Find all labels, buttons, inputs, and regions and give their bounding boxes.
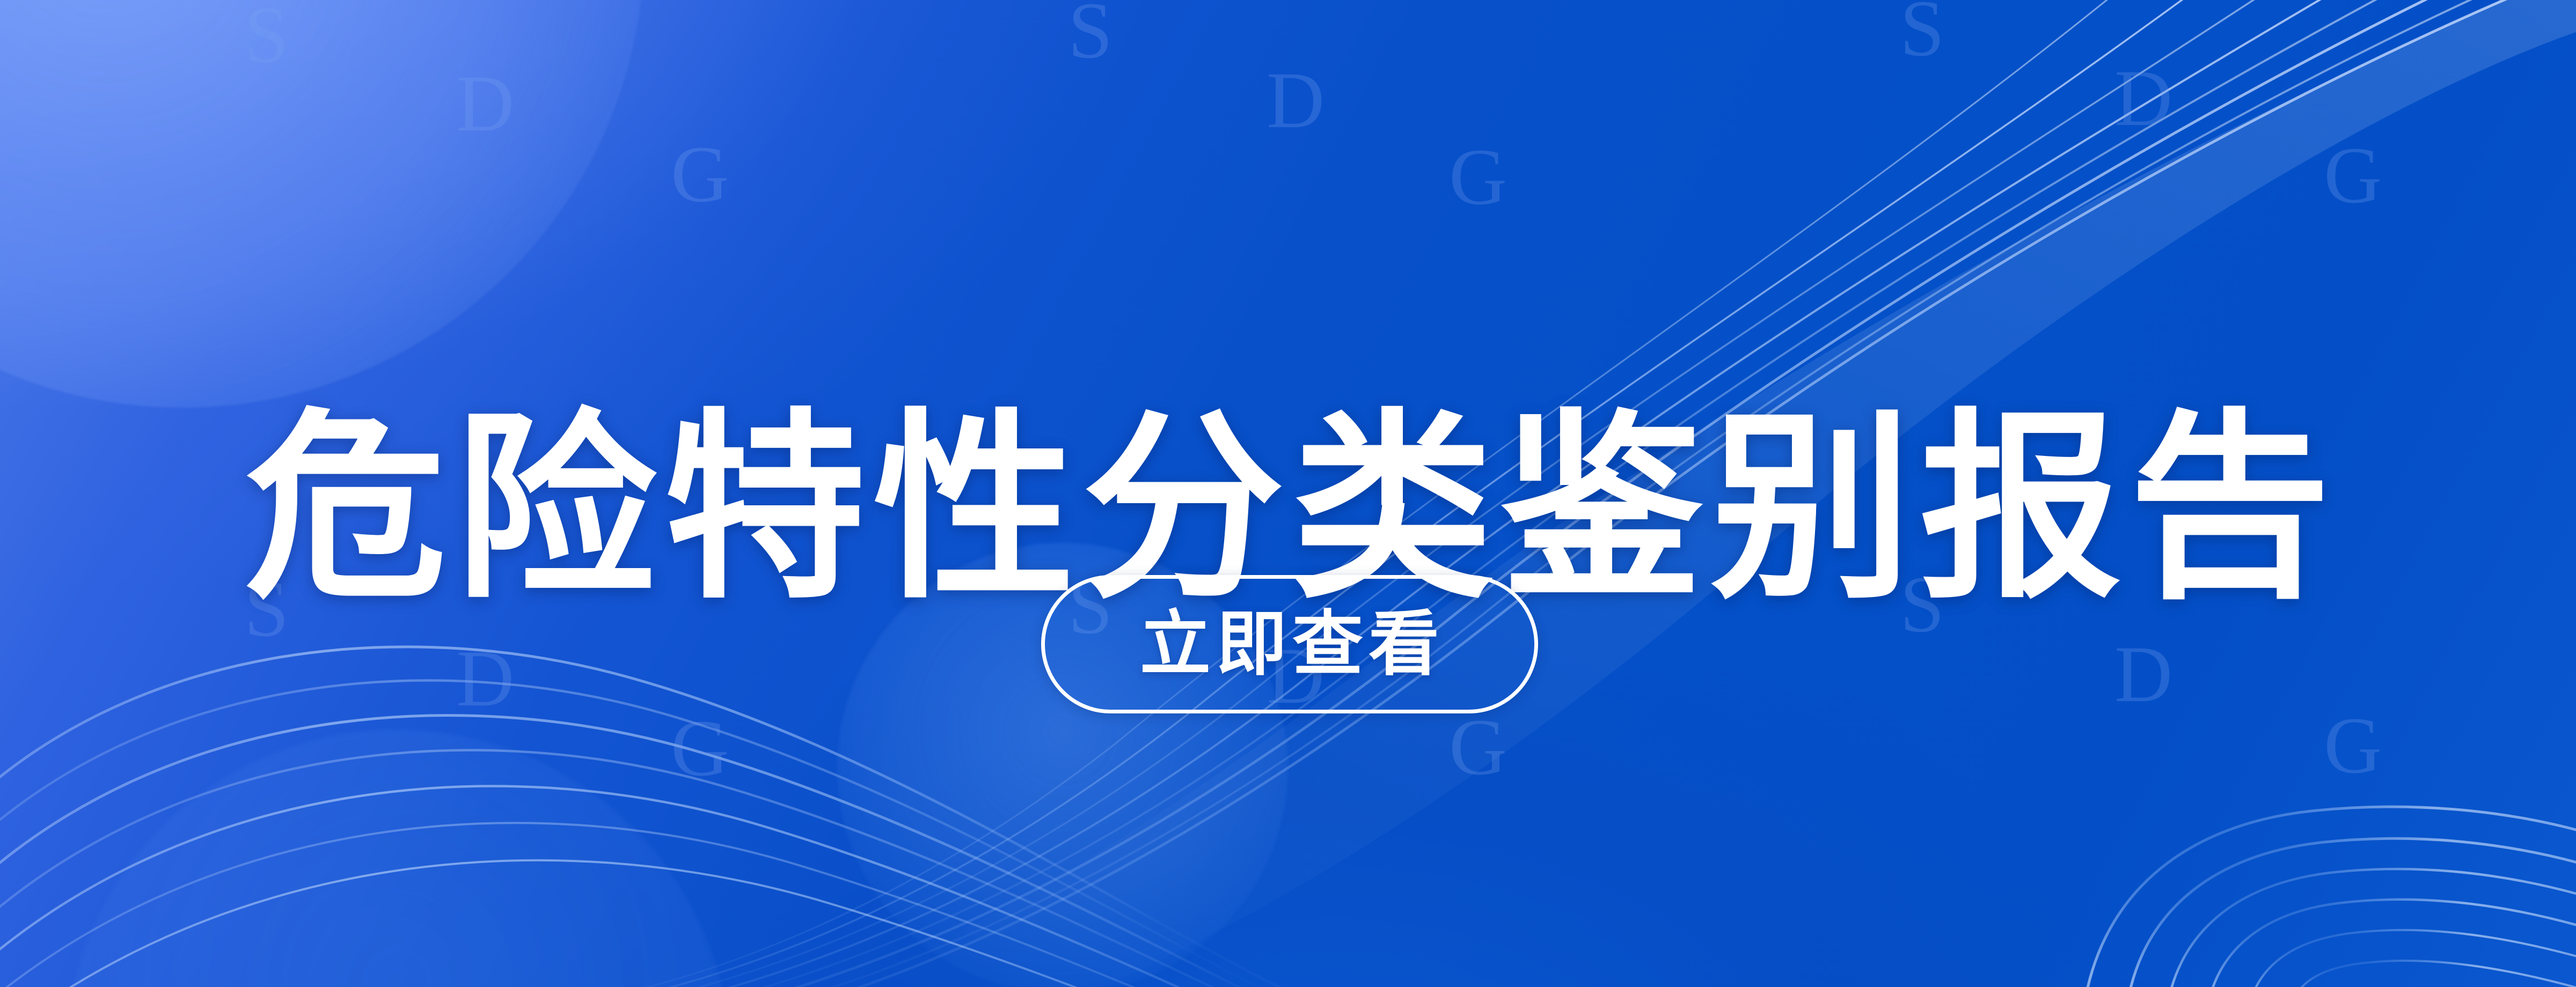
watermark-letter-g: G xyxy=(671,708,729,789)
decorative-circle-top-left xyxy=(0,0,644,408)
watermark-letter-g: G xyxy=(2324,705,2382,786)
watermark-letter-d: D xyxy=(1267,60,1324,141)
watermark-letter-s: S xyxy=(1068,0,1113,71)
view-now-button[interactable]: 立即查看 xyxy=(1041,575,1538,713)
decorative-circle-bottom-left xyxy=(64,730,730,987)
watermark-letter-d: D xyxy=(2114,634,2172,715)
view-now-button-label: 立即查看 xyxy=(1135,609,1445,680)
watermark-letter-g: G xyxy=(2324,135,2382,216)
watermark-letter-g: G xyxy=(671,134,729,215)
watermark-letter-d: D xyxy=(2114,58,2172,138)
promo-banner: SDGSDGSDGSDGSDGSDG 危险特性分类鉴别报告 立即查看 xyxy=(0,0,2576,987)
watermark-letter-d: D xyxy=(456,638,514,719)
watermark-letter-g: G xyxy=(1449,137,1507,217)
watermark-letter-s: S xyxy=(1900,0,1944,69)
watermark-letter-g: G xyxy=(1449,707,1507,787)
